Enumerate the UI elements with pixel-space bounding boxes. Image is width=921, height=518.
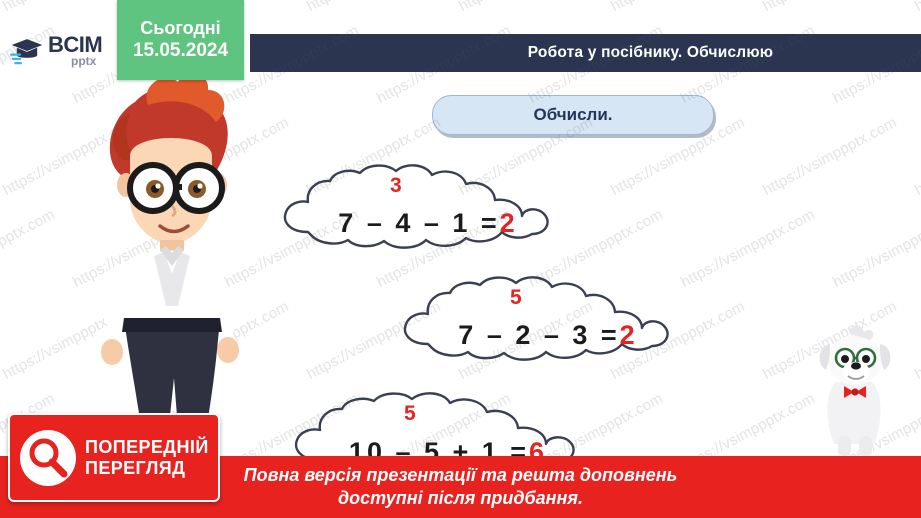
task-1-hint: 3: [390, 174, 402, 198]
slide-root: https://vsimppptx.comhttps://vsimppptx.c…: [0, 0, 921, 518]
watermark-text: https://vsimppptx.com: [912, 0, 921, 15]
preview-badge-line2: ПЕРЕГЛЯД: [85, 458, 209, 479]
page-title: Робота у посібнику. Обчислюю: [250, 34, 921, 72]
date-badge-line2: 15.05.2024: [133, 39, 228, 63]
task-cloud-1: 7 – 4 – 1 = 2 3: [272, 160, 572, 270]
watermark-text: https://vsimppptx.com: [830, 206, 921, 291]
watermark-text: https://vsimppptx.com: [678, 206, 818, 291]
watermark-text: https://vsimppptx.com: [912, 114, 921, 199]
task-cloud-2: 7 – 2 – 3 = 2 5: [392, 272, 692, 382]
task-2-hint: 5: [510, 286, 522, 310]
task-1-expression-row: 7 – 4 – 1 = 2: [272, 160, 578, 278]
task-1-expression: 7 – 4 – 1 =: [338, 208, 499, 239]
watermark-text: https://vsimppptx.com: [912, 298, 921, 383]
watermark-text: https://vsimppptx.com: [760, 114, 900, 199]
task-1-answer: 2: [500, 208, 518, 239]
date-badge: Сьогодні 15.05.2024: [117, 0, 244, 80]
task-2-expression: 7 – 2 – 3 =: [458, 320, 619, 351]
magnifier-icon: [20, 430, 76, 486]
boy-character-illustration: [60, 60, 280, 460]
instruction-label: Обчисли.: [533, 105, 612, 125]
preview-badge-line1: ПОПЕРЕДНІЙ: [85, 437, 209, 458]
watermark-text: https://vsimppptx.com: [760, 0, 900, 15]
bottom-banner-line1: Повна версія презентації та решта доповн…: [244, 464, 678, 487]
preview-badge: ПОПЕРЕДНІЙ ПЕРЕГЛЯД: [8, 413, 220, 502]
graduation-cap-icon: [10, 36, 44, 66]
watermark-text: https://vsimppptx.com: [304, 0, 444, 15]
task-3-hint: 5: [404, 402, 416, 426]
task-2-expression-row: 7 – 2 – 3 = 2: [392, 272, 698, 390]
watermark-text: https://vsimppptx.com: [608, 0, 748, 15]
watermark-text: https://vsimppptx.com: [456, 0, 596, 15]
instruction-pill: Обчисли.: [432, 95, 714, 135]
date-badge-line1: Сьогодні: [140, 17, 220, 39]
header-bar: Робота у посібнику. Обчислюю: [250, 34, 921, 72]
bottom-banner-line2: доступні після придбання.: [338, 487, 583, 510]
task-2-answer: 2: [620, 320, 638, 351]
dog-character-illustration: [800, 320, 910, 460]
preview-badge-text: ПОПЕРЕДНІЙ ПЕРЕГЛЯД: [85, 437, 209, 479]
watermark-text: https://vsimppptx.com: [0, 206, 58, 291]
